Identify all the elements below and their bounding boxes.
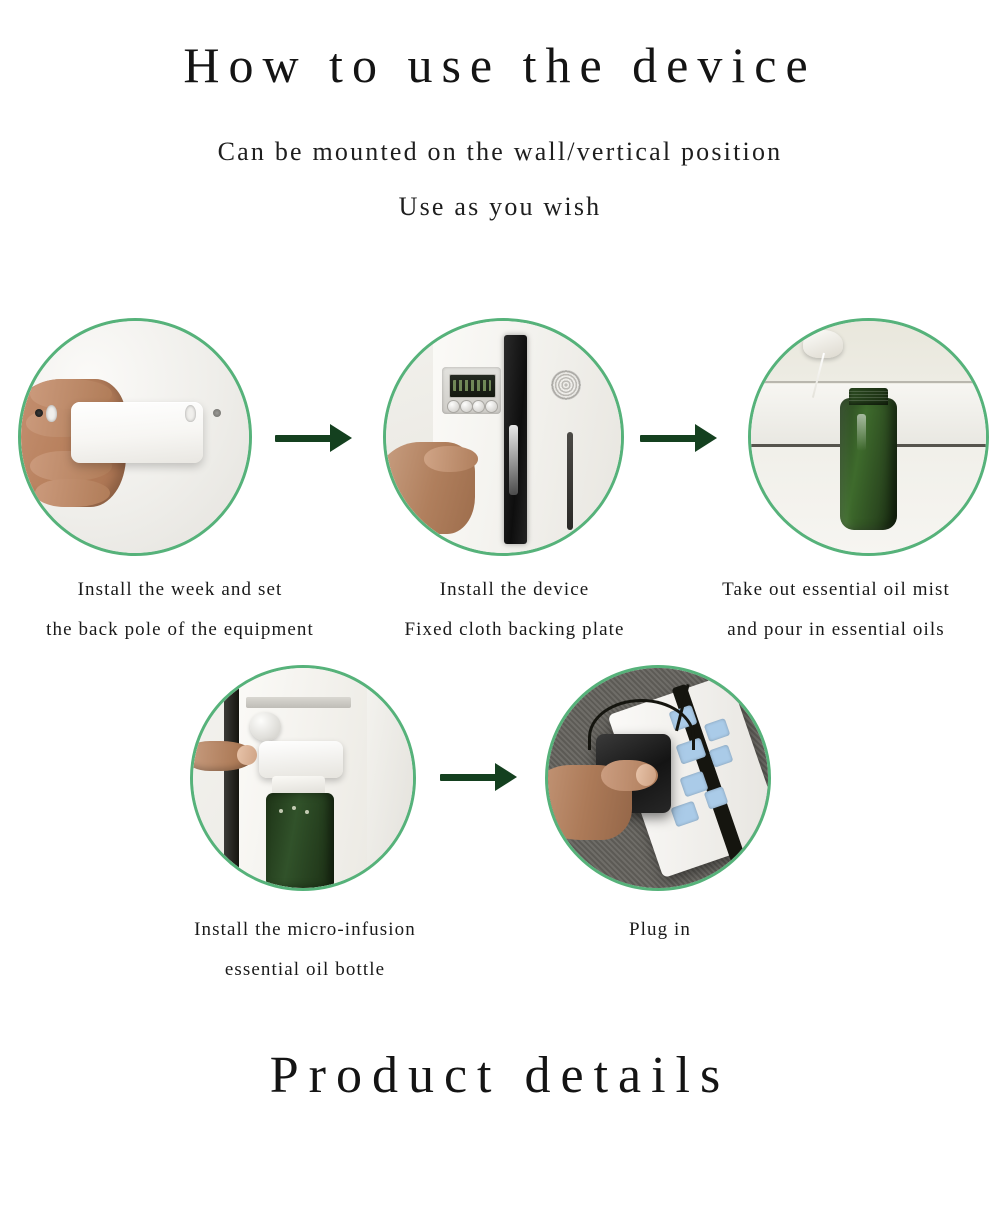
step-2-caption: Install the device Fixed cloth backing p… xyxy=(362,570,667,650)
subtitle-line-1: Can be mounted on the wall/vertical posi… xyxy=(0,137,1000,167)
infographic-page: How to use the device Can be mounted on … xyxy=(0,0,1000,1212)
page-title: How to use the device xyxy=(0,36,1000,94)
device-dark-edge xyxy=(224,668,239,888)
control-button xyxy=(485,400,498,413)
keyhole-slot xyxy=(185,405,196,422)
step-2-photo-inner xyxy=(386,321,621,553)
next-step-arrow xyxy=(440,763,517,791)
control-button xyxy=(472,400,485,413)
step-1-photo xyxy=(18,318,252,556)
step-1-photo-inner xyxy=(21,321,249,553)
arrow-shaft xyxy=(275,435,331,442)
internal-shelf xyxy=(246,697,352,708)
caption-line: essential oil bottle xyxy=(110,950,500,990)
lcd-digits xyxy=(453,380,491,390)
wall-mount-plate xyxy=(71,402,203,462)
arrow-head xyxy=(695,424,717,452)
screw-head xyxy=(213,409,221,417)
step-4-caption: Install the micro-infusion essential oil… xyxy=(110,910,500,990)
step-5-photo-inner xyxy=(548,668,768,888)
bottle-highlight xyxy=(857,414,866,451)
strip-light xyxy=(509,425,517,495)
finger xyxy=(35,479,110,507)
side-slot xyxy=(567,432,573,529)
caption-line: Take out essential oil mist xyxy=(672,570,1000,610)
step-2-photo xyxy=(383,318,624,556)
shelf-line xyxy=(751,381,986,383)
next-step-arrow xyxy=(640,424,717,452)
step-4-photo-inner xyxy=(193,668,413,888)
control-button xyxy=(460,400,473,413)
caption-line: and pour in essential oils xyxy=(672,610,1000,650)
device-right-panel xyxy=(367,668,413,888)
step-4-photo xyxy=(190,665,416,891)
control-button xyxy=(447,400,460,413)
arrow-head xyxy=(330,424,352,452)
caption-line: Install the week and set xyxy=(0,570,360,610)
step-1-caption: Install the week and set the back pole o… xyxy=(0,570,360,650)
bottle-thread xyxy=(849,391,889,401)
fingernail xyxy=(237,745,257,765)
thumb xyxy=(424,446,478,472)
screw-head xyxy=(35,409,43,417)
caption-line: Install the micro-infusion xyxy=(110,910,500,950)
section-title: Product details xyxy=(0,1046,1000,1105)
knob xyxy=(250,712,281,741)
bubble xyxy=(292,806,296,810)
essential-oil-bottle xyxy=(840,398,896,530)
step-3-photo-inner xyxy=(751,321,986,553)
next-step-arrow xyxy=(275,424,352,452)
subtitle-line-2: Use as you wish xyxy=(0,192,1000,222)
bubble xyxy=(279,809,283,813)
keyhole-slot xyxy=(46,405,57,422)
step-5-caption: Plug in xyxy=(520,910,800,950)
step-3-caption: Take out essential oil mist and pour in … xyxy=(672,570,1000,650)
arrow-head xyxy=(495,763,517,791)
caption-line: the back pole of the equipment xyxy=(0,610,360,650)
caption-line: Plug in xyxy=(520,910,800,950)
arrow-shaft xyxy=(440,774,496,781)
fan-grille-icon xyxy=(551,370,582,400)
micro-infusion-cap xyxy=(259,741,343,778)
caption-line: Fixed cloth backing plate xyxy=(362,610,667,650)
step-5-photo xyxy=(545,665,771,891)
arrow-shaft xyxy=(640,435,696,442)
step-3-photo xyxy=(748,318,989,556)
fingernail xyxy=(636,764,656,786)
essential-oil-bottle xyxy=(266,793,334,888)
caption-line: Install the device xyxy=(362,570,667,610)
